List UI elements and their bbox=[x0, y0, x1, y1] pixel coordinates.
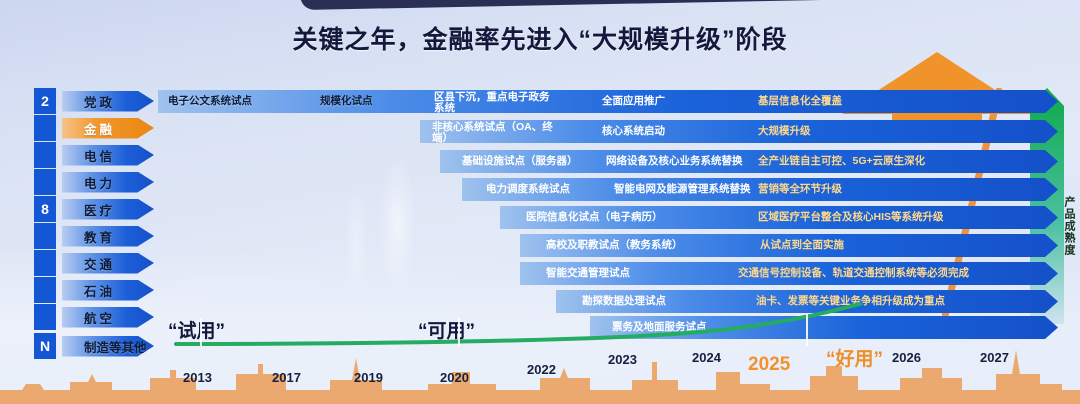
year-label-2026: 2026 bbox=[892, 350, 921, 365]
year-axis: 2013 2017 2019 2020 2022 2023 2024 2025 … bbox=[0, 332, 1080, 372]
table-row[interactable]: 电子公文系统试点 规模化试点 区县下沉，重点电子政务系统 全面应用推广 基层信息… bbox=[158, 90, 1058, 113]
segment-label: 高校及职教试点（教务系统） bbox=[546, 240, 683, 251]
segment-label: 智能交通管理试点 bbox=[546, 268, 630, 279]
segment-label: 非核心系统试点（OA、终端） bbox=[432, 122, 560, 144]
segment-label: 基础设施试点（服务器） bbox=[462, 156, 578, 167]
slide-canvas: 关键之年，金融率先进入“大规模升级”阶段 产品成熟度 2 党政 8 金融 bbox=[0, 0, 1080, 404]
table-row[interactable]: 高校及职教试点（教务系统） 从试点到全面实施 bbox=[520, 234, 1058, 257]
segment-label: 交通信号控制设备、轨道交通控制系统等必须完成 bbox=[738, 268, 969, 279]
year-label-2013: 2013 bbox=[183, 370, 212, 385]
segment-label: 营销等全环节升级 bbox=[758, 184, 842, 195]
segment-label: 全面应用推广 bbox=[602, 96, 665, 107]
timeline-bars: 电子公文系统试点 规模化试点 区县下沉，重点电子政务系统 全面应用推广 基层信息… bbox=[0, 88, 1080, 320]
segment-label: 基层信息化全覆盖 bbox=[758, 96, 842, 107]
page-title: 关键之年，金融率先进入“大规模升级”阶段 bbox=[0, 20, 1080, 56]
year-label-2020: 2020 bbox=[440, 370, 469, 385]
segment-label: 大规模升级 bbox=[758, 126, 811, 137]
segment-label: 医院信息化试点（电子病历） bbox=[526, 212, 663, 223]
segment-label: 区域医疗平台整合及核心HIS等系统升级 bbox=[758, 212, 944, 223]
year-label-2019: 2019 bbox=[354, 370, 383, 385]
top-navy-band bbox=[300, 0, 1080, 10]
segment-label: 全产业链自主可控、5G+云原生深化 bbox=[758, 156, 925, 167]
year-label-2027: 2027 bbox=[980, 350, 1009, 365]
year-label-2025: 2025 bbox=[748, 354, 790, 376]
table-row[interactable]: 基础设施试点（服务器） 网络设备及核心业务系统替换 全产业链自主可控、5G+云原… bbox=[440, 150, 1058, 173]
year-tick bbox=[458, 318, 460, 346]
segment-label: 规模化试点 bbox=[320, 96, 373, 107]
table-row[interactable]: 非核心系统试点（OA、终端） 核心系统启动 大规模升级 bbox=[420, 120, 1058, 143]
table-row[interactable]: 智能交通管理试点 交通信号控制设备、轨道交通控制系统等必须完成 bbox=[520, 262, 1058, 285]
segment-label: 核心系统启动 bbox=[602, 126, 665, 137]
year-label-2024: 2024 bbox=[692, 350, 721, 365]
year-tick bbox=[806, 314, 808, 346]
segment-label: 智能电网及能源管理系统替换 bbox=[614, 184, 751, 195]
year-label-2022: 2022 bbox=[527, 362, 556, 377]
segment-label: 区县下沉，重点电子政务系统 bbox=[434, 92, 552, 114]
year-label-2017: 2017 bbox=[272, 370, 301, 385]
year-tick bbox=[200, 318, 202, 346]
segment-label: 从试点到全面实施 bbox=[760, 240, 844, 251]
segment-label: 电子公文系统试点 bbox=[168, 96, 252, 107]
year-label-2023: 2023 bbox=[608, 352, 637, 367]
segment-label: 网络设备及核心业务系统替换 bbox=[606, 156, 743, 167]
table-row[interactable]: 电力调度系统试点 智能电网及能源管理系统替换 营销等全环节升级 bbox=[462, 178, 1058, 201]
table-row[interactable]: 医院信息化试点（电子病历） 区域医疗平台整合及核心HIS等系统升级 bbox=[500, 206, 1058, 229]
segment-label: 电力调度系统试点 bbox=[486, 184, 570, 195]
